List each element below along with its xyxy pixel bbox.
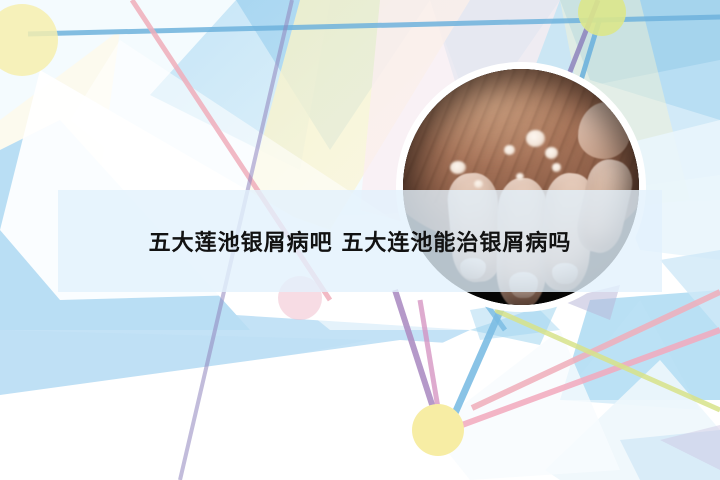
headline-title: 五大莲池银屑病吧 五大连池能治银屑病吗 (149, 225, 572, 257)
headline-banner: 五大莲池银屑病吧 五大连池能治银屑病吗 (58, 190, 662, 292)
line-pink-from-bottom-dot (462, 330, 720, 425)
line-yellowgreen-lower-right (495, 310, 720, 410)
poster-canvas: 五大莲池银屑病吧 五大连池能治银屑病吗 (0, 0, 720, 480)
yellow-dot-bottom-center (412, 404, 464, 456)
yellow-dot-top-left (0, 4, 58, 76)
